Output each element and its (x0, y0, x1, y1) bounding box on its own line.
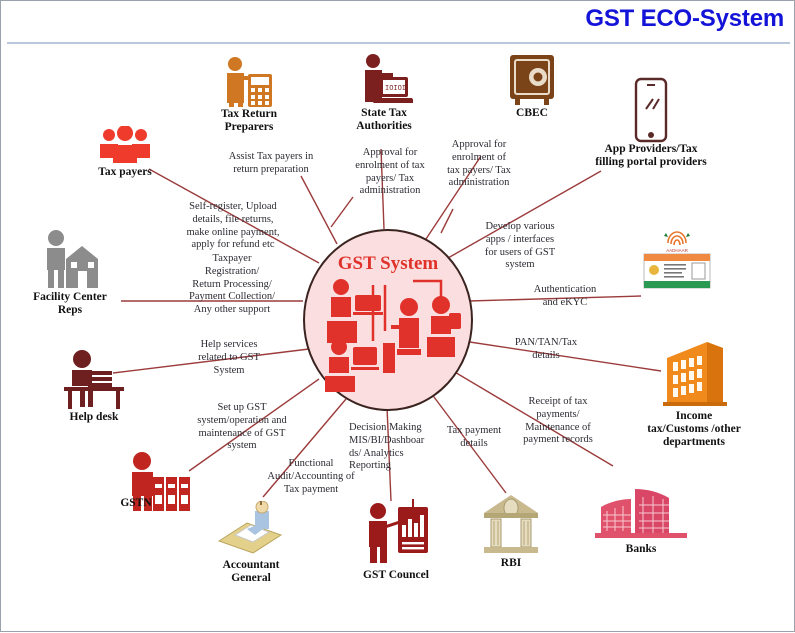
gst-system-hub: GST System (303, 229, 473, 411)
node-label: Help desk (46, 411, 142, 424)
node-gst-council[interactable]: GST Councel (341, 499, 451, 582)
annotation-pan-tan-tax: PAN/TAN/Tax details (501, 337, 591, 363)
annotation-develop-apps: Develop various apps / interfaces for us… (471, 221, 569, 272)
svg-text:IOIOI: IOIOI (385, 85, 406, 93)
safe-vault-icon (506, 53, 558, 107)
node-label: CBEC (491, 107, 573, 120)
office-building-icon (657, 336, 731, 410)
node-label: State Tax Authorities (331, 107, 437, 133)
node-help-desk[interactable]: Help desk (46, 349, 142, 424)
annotation-tax-payment-details: Tax payment details (438, 425, 510, 451)
presenter-with-chart-icon (360, 499, 432, 569)
annotation-approval-cbec: Approval for enrolment of tax payers/ Ta… (434, 139, 524, 190)
node-label: GSTN (86, 497, 186, 510)
node-label: App Providers/Tax filling portal provide… (576, 143, 726, 169)
node-accountant-general[interactable]: Accountant General (201, 501, 301, 585)
node-rbi[interactable]: RBI (471, 491, 551, 570)
node-label: Accountant General (201, 559, 301, 585)
node-facility-center[interactable]: Facility Center Reps (15, 229, 125, 317)
people-at-computers-icon (313, 277, 463, 395)
node-income-tax-customs[interactable]: Income tax/Customs /other departments (616, 336, 772, 450)
svg-text:AADHAAR: AADHAAR (666, 248, 689, 253)
annotation-authentication-ekyc: Authentication and eKYC (517, 284, 613, 310)
person-with-calculator-icon (221, 56, 277, 108)
node-label: Tax Return Preparers (197, 108, 301, 134)
slide-canvas: GST ECO-System GST System (0, 0, 795, 632)
node-label: GST Councel (341, 569, 451, 582)
node-aadhaar[interactable]: AADHAAR (637, 229, 717, 291)
annotation-functional-audit: Functional Audit/Accounting of Tax payme… (259, 458, 363, 496)
hub-title: GST System (305, 253, 471, 275)
node-cbec[interactable]: CBEC (491, 53, 573, 120)
classical-bank-icon (480, 491, 542, 557)
person-writing-icon (213, 501, 289, 559)
node-tax-return-preparers[interactable]: Tax Return Preparers (197, 56, 301, 134)
annotation-help-services: Help services related to GST System (181, 339, 277, 377)
smartphone-icon (632, 77, 670, 143)
node-tax-payers[interactable]: Tax payers (79, 126, 171, 179)
aadhaar-card-icon: AADHAAR (638, 229, 716, 291)
annotation-taxpayer-registration: Taxpayer Registration/ Return Processing… (177, 253, 287, 317)
node-banks[interactable]: Banks (586, 481, 696, 556)
annotation-self-register: Self-register, Upload details, file retu… (173, 201, 293, 252)
node-label: Facility Center Reps (15, 291, 125, 317)
node-label: Banks (586, 543, 696, 556)
node-gstn[interactable]: GSTN (106, 451, 206, 526)
node-app-providers[interactable]: App Providers/Tax filling portal provide… (576, 77, 726, 169)
node-state-tax-authorities[interactable]: IOIOI State Tax Authorities (331, 53, 437, 133)
person-with-house-icon (36, 229, 104, 291)
node-label: Tax payers (79, 166, 171, 179)
person-with-laptop-icon: IOIOI (355, 53, 413, 107)
person-at-desk-icon (58, 349, 130, 411)
annotation-approval-state-tax: Approval for enrolment of tax payers/ Ta… (337, 147, 443, 198)
group-of-people-icon (97, 126, 153, 166)
annotation-receipt-of-tax: Receipt of tax payments/ Maintenance of … (509, 396, 607, 447)
annotation-set-up-gst: Set up GST system/operation and maintena… (187, 402, 297, 453)
annotation-assist-tax-payers: Assist Tax payers in return preparation (216, 151, 326, 177)
node-label: Income tax/Customs /other departments (616, 410, 772, 450)
bank-buildings-icon (593, 481, 689, 543)
node-label: RBI (471, 557, 551, 570)
